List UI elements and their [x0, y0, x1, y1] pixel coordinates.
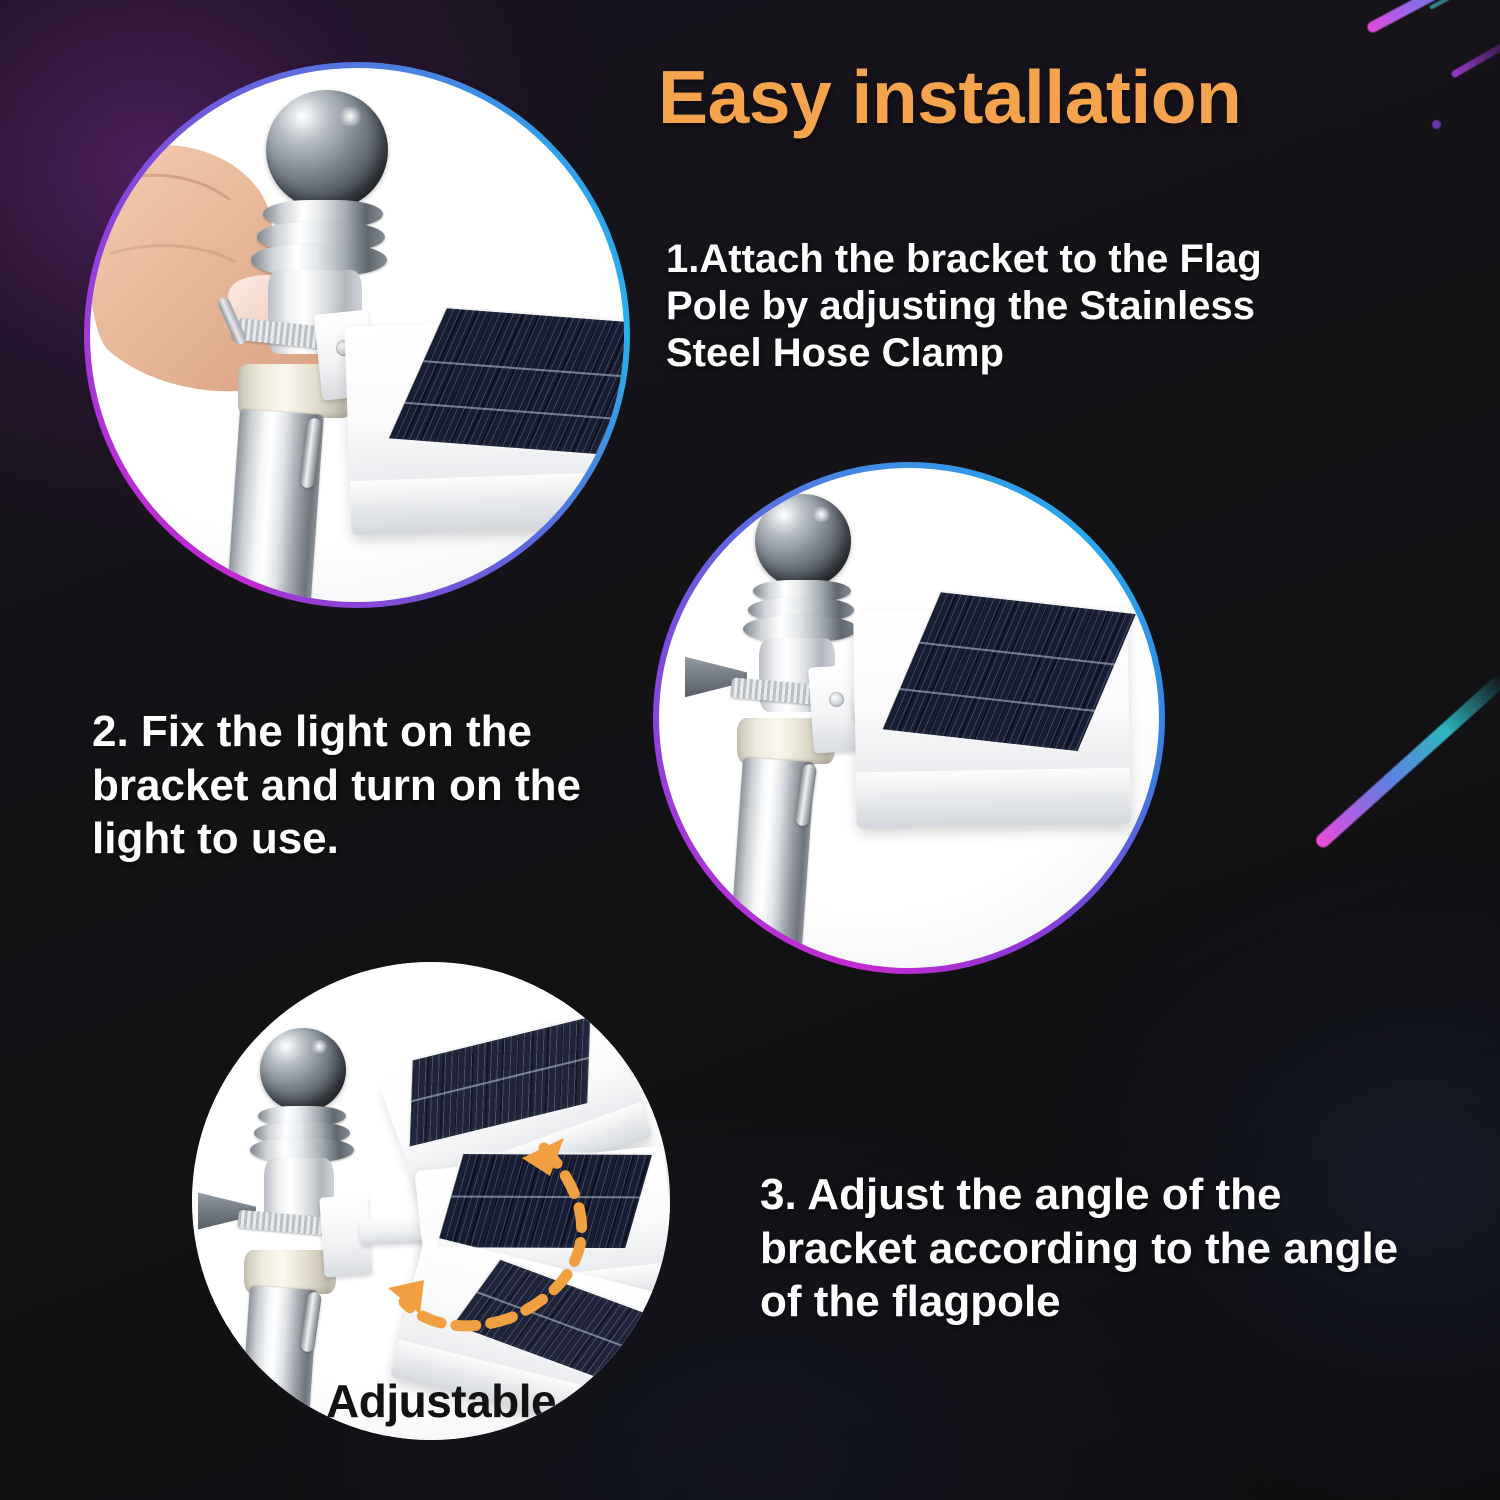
step-2-text: 2. Fix the light on the bracket and turn… — [92, 705, 652, 866]
page-title: Easy installation — [658, 60, 1398, 135]
finial-ball — [266, 90, 388, 210]
comet-streak-right-icon — [1313, 673, 1500, 851]
adjustable-label: Adjustable — [326, 1374, 556, 1428]
bracket-screw — [829, 692, 844, 707]
light-speck-icon — [1432, 120, 1441, 129]
step-2-photo — [653, 462, 1165, 974]
finial-ball — [260, 1028, 346, 1112]
lamp-lens-lip — [856, 767, 1131, 828]
step-3-photo-inner: Adjustable — [192, 962, 670, 1440]
solar-light-fixture — [344, 317, 624, 535]
step-3-text: 3. Adjust the angle of the bracket accor… — [760, 1168, 1420, 1329]
step-3-photo: Adjustable — [192, 962, 670, 1440]
step-2-photo-inner — [659, 468, 1159, 968]
comet-streak-tail-icon — [1429, 0, 1500, 10]
comet-streak-small-icon — [1450, 32, 1500, 78]
step-1-text: 1.Attach the bracket to the Flag Pole by… — [666, 236, 1306, 378]
product-infographic: Easy installation 1.Attach the bracket t… — [0, 0, 1500, 1500]
lamp-lens-lip — [350, 471, 624, 536]
solar-panel — [434, 1152, 655, 1250]
step-1-photo — [84, 62, 630, 608]
step-1-photo-inner — [90, 68, 624, 602]
finial-ball — [755, 494, 851, 588]
solar-light-fixture — [853, 608, 1131, 829]
